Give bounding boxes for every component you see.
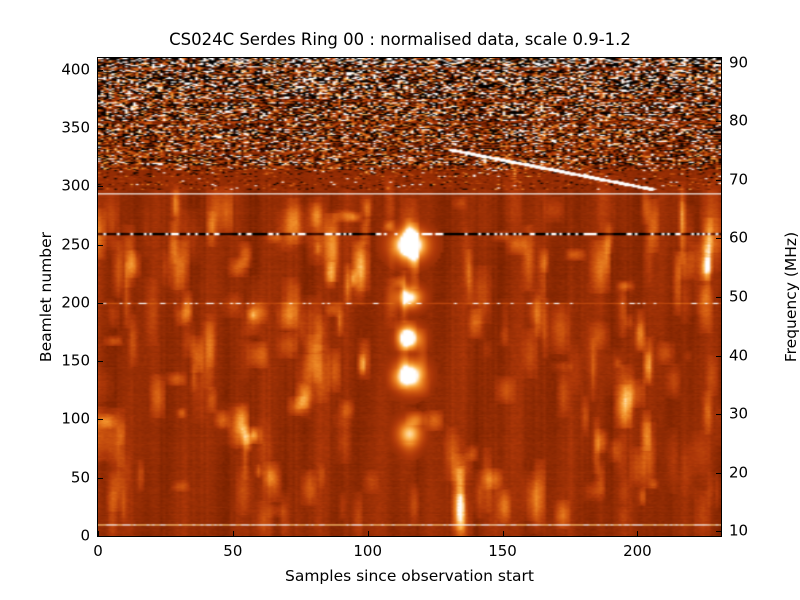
y-tick-label-right: 90 — [729, 55, 748, 70]
x-tick-label: 150 — [488, 544, 517, 559]
x-tick-label: 0 — [93, 544, 103, 559]
y-axis-label-left: Beamlet number — [37, 57, 55, 537]
y-tick-label-right: 80 — [729, 114, 748, 129]
y-tick-label-left: 150 — [61, 354, 90, 369]
y-tick-label-left: 400 — [61, 62, 90, 77]
y-tick-label-left: 350 — [61, 120, 90, 135]
y-tick-label-left: 300 — [61, 179, 90, 194]
spectrogram-axes — [97, 57, 722, 537]
x-axis-label: Samples since observation start — [97, 567, 722, 585]
y-tick-label-left: 0 — [80, 529, 90, 544]
y-tick-label-left: 250 — [61, 237, 90, 252]
y-tick-label-right: 40 — [729, 348, 748, 363]
y-tick-label-right: 70 — [729, 172, 748, 187]
y-axis-label-right: Frequency (MHz) — [782, 57, 800, 537]
spectrogram-image — [98, 58, 721, 536]
y-tick-label-right: 10 — [729, 524, 748, 539]
x-tick-label: 100 — [353, 544, 382, 559]
y-tick-label-right: 30 — [729, 407, 748, 422]
x-tick-label: 200 — [623, 544, 652, 559]
y-tick-label-left: 50 — [71, 470, 90, 485]
y-tick-label-right: 60 — [729, 231, 748, 246]
page-title: CS024C Serdes Ring 00 : normalised data,… — [0, 30, 800, 50]
y-tick-label-left: 200 — [61, 295, 90, 310]
y-tick-label-right: 50 — [729, 290, 748, 305]
figure-canvas: CS024C Serdes Ring 00 : normalised data,… — [0, 0, 800, 600]
x-tick-label: 50 — [223, 544, 242, 559]
y-tick-label-right: 20 — [729, 465, 748, 480]
y-tick-left — [98, 536, 103, 537]
y-tick-label-left: 100 — [61, 412, 90, 427]
